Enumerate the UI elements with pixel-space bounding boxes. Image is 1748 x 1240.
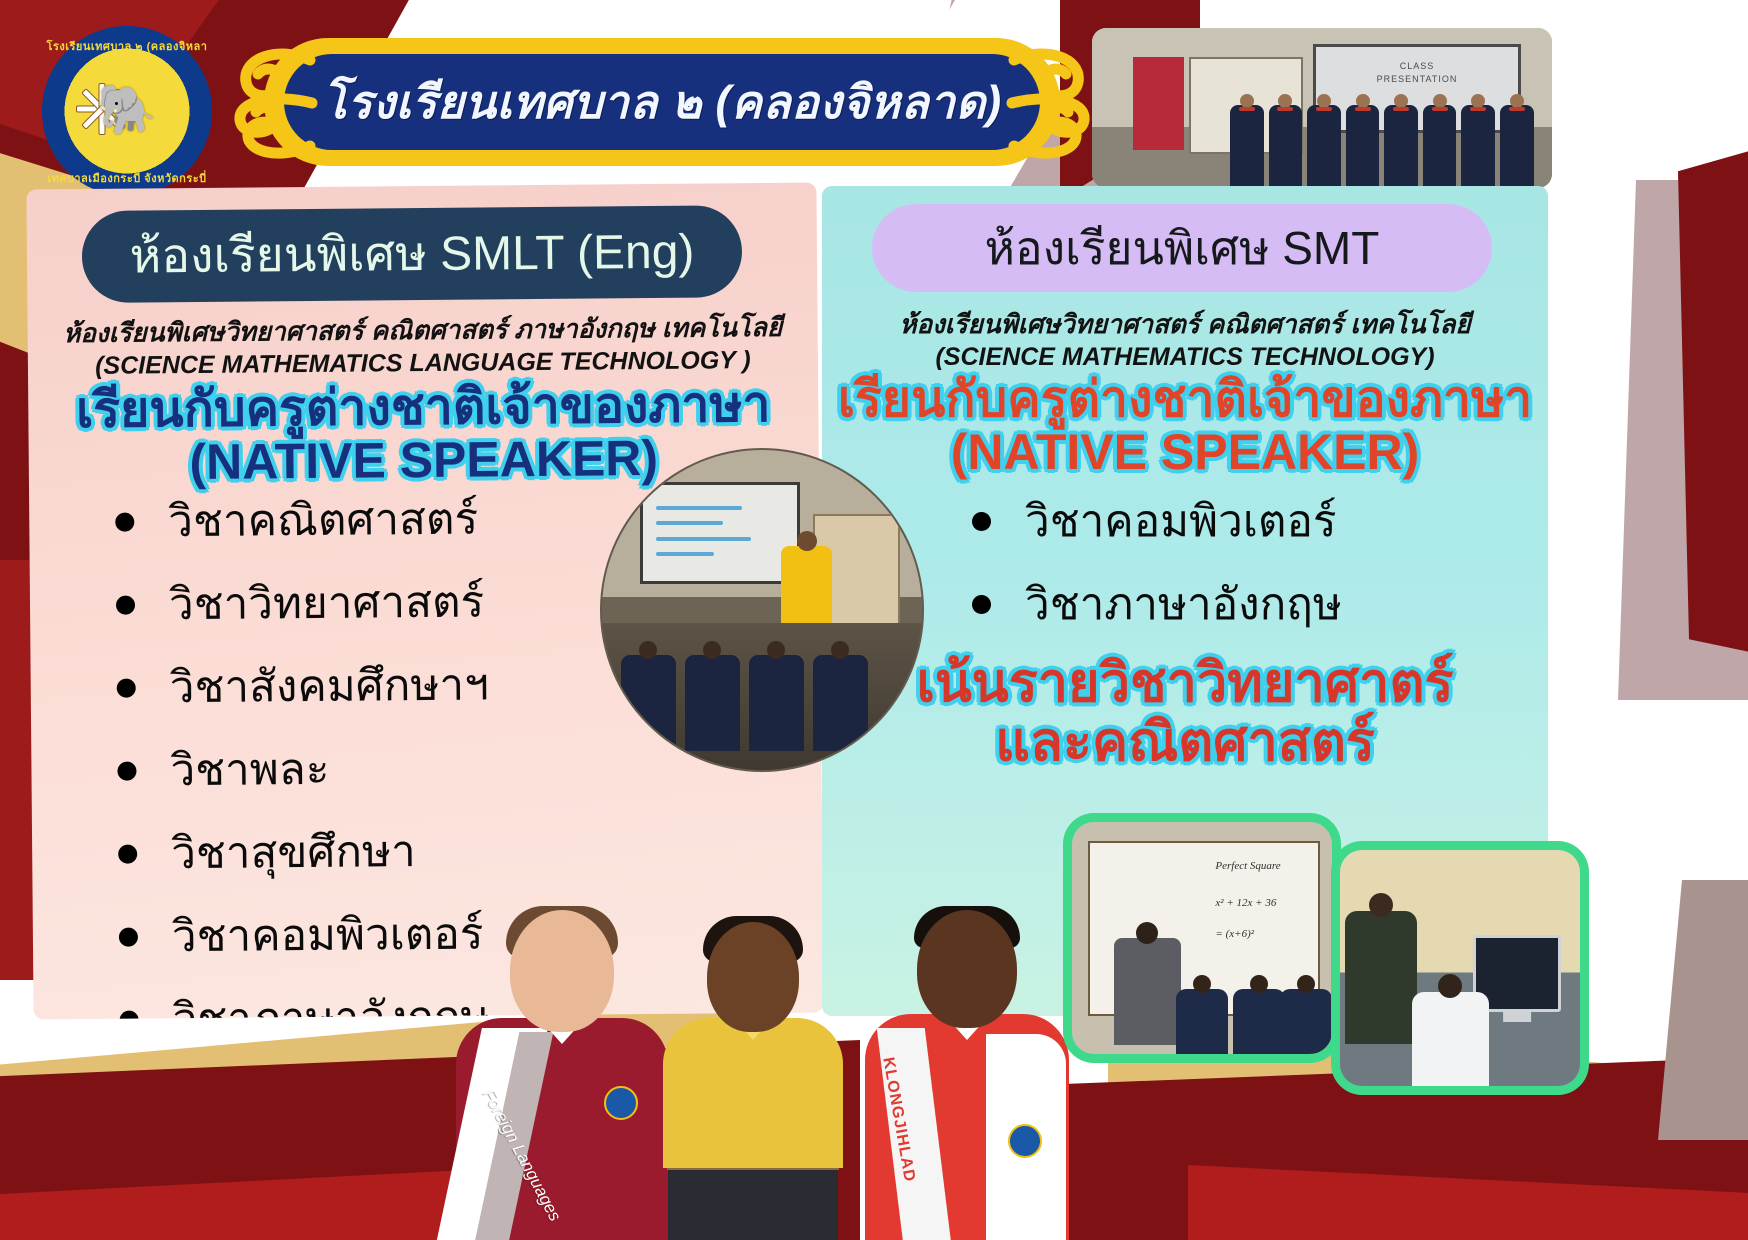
bullet-dot-icon [119,927,138,946]
list-item: วิชาพละ [117,732,490,805]
list-item: วิชาสังคมศึกษาฯ [116,649,489,722]
math-whiteboard-photo: Perfect Square x² + 12x + 36 = (x+6)² [1072,822,1332,1054]
list-item: วิชาภาษาอังกฤษ [119,981,492,1019]
smt-subject-list: วิชาคอมพิวเตอร์ วิชาภาษาอังกฤษ [972,486,1342,652]
teacher2-trousers [668,1158,838,1240]
teacher2-face [707,922,799,1032]
smt-emphasis-line2: และคณิตศาสตร์ [822,715,1548,770]
logo-ring-text: โรงเรียนเทศบาล ๒ (คลองจิหลาด) เทศบาลเมือ… [42,26,212,196]
ornament-flourish-left-icon [226,42,346,164]
list-item: วิชาคณิตศาสตร์ [115,483,488,556]
students-row [1230,105,1534,188]
board-text-1: Perfect Square [1215,860,1280,872]
subject-label: วิชาภาษาอังกฤษ [172,981,490,1019]
subject-label: วิชาคอมพิวเตอร์ [172,899,484,972]
logo-ring-top-text: โรงเรียนเทศบาล ๒ (คลองจิหลาด) [42,37,212,73]
subject-label: วิชาภาษาอังกฤษ [1025,569,1342,639]
list-item: วิชาภาษาอังกฤษ [972,569,1342,639]
bullet-dot-icon [117,761,136,780]
teacher2-shirt [663,1018,843,1168]
smt-subtitle-thai: ห้องเรียนพิเศษวิทยาศาสตร์ คณิตศาสตร์ เทค… [822,308,1548,341]
class-presentation-photo: CLASS PRESENTATION [1092,28,1552,188]
list-item: วิชาสุขศึกษา [118,815,491,888]
foreign-language-teacher-1: Foreign Languages [452,910,672,1240]
smt-subtitle-english: (SCIENCE MATHEMATICS TECHNOLOGY) [822,342,1548,373]
bullet-dot-icon [120,1010,139,1019]
smlt-subject-list: วิชาคณิตศาสตร์ วิชาวิทยาศาสตร์ วิชาสังคม… [115,483,492,1019]
smt-title-pill: ห้องเรียนพิเศษ SMT [872,204,1492,292]
bullet-dot-icon [116,595,135,614]
bullet-dot-icon [972,595,991,614]
ornament-flourish-right-icon [978,42,1098,164]
foreign-language-teacher-2 [656,922,850,1240]
computer-lab-photo [1340,850,1580,1086]
foreign-language-teacher-3: KLONGJIHLAD [862,910,1072,1240]
photo-native-teacher [781,546,832,629]
smlt-title-pill: ห้องเรียนพิเศษ SMLT (Eng) [82,205,743,303]
decor-shard-maroon-right [1678,140,1748,660]
smlt-native-line1: เรียนกับครูต่างชาติเจ้าของภาษา [28,379,818,437]
banner-blue-pill: โรงเรียนเทศบาล ๒ (คลองจิหลาด) [284,54,1040,150]
bullet-dot-icon [972,512,991,531]
smt-title: ห้องเรียนพิเศษ SMT [985,212,1380,285]
math-photo-teacher [1114,938,1182,1045]
smt-native-line1: เรียนกับครูต่างชาติเจ้าของภาษา [822,374,1548,425]
subject-label: วิชาสุขศึกษา [171,816,416,888]
smt-native-speaker-heading: เรียนกับครูต่างชาติเจ้าของภาษา (NATIVE S… [822,374,1548,478]
school-name-banner: โรงเรียนเทศบาล ๒ (คลองจิหลาด) [232,28,1092,178]
school-logo: 🐘 โรงเรียนเทศบาล ๒ (คลองจิหลาด) เทศบาลเม… [42,26,212,196]
computer-lab-student [1412,992,1489,1086]
list-item: วิชาวิทยาศาสตร์ [116,566,489,639]
school-name-text: โรงเรียนเทศบาล ๒ (คลองจิหลาด) [322,66,1001,139]
subject-label: วิชาคอมพิวเตอร์ [1025,486,1337,556]
teacher1-school-badge-icon [604,1086,638,1120]
teacher1-face [510,910,614,1032]
smlt-title: ห้องเรียนพิเศษ SMLT (Eng) [129,214,694,295]
subject-label: วิชาสังคมศึกษาฯ [169,649,489,722]
bullet-dot-icon [115,512,134,531]
subject-label: วิชาวิทยาศาสตร์ [169,566,485,639]
bullet-dot-icon [118,844,137,863]
smt-emphasis-line1: เน้นรายวิชาวิทยาศาตร์ [822,656,1548,711]
computer-lab-teacher [1345,911,1417,1043]
smt-emphasis-heading: เน้นรายวิชาวิทยาศาตร์ และคณิตศาสตร์ [822,656,1548,770]
photo-projector-screen [640,482,800,584]
screen-text-line2: PRESENTATION [1316,73,1518,86]
smlt-subtitle-thai: ห้องเรียนพิเศษวิทยาศาสตร์ คณิตศาสตร์ ภาษ… [28,311,818,350]
teacher3-face [917,910,1017,1028]
board-text-3: = (x+6)² [1215,928,1254,940]
subject-label: วิชาพละ [170,734,329,805]
screen-text-line1: CLASS [1316,60,1518,73]
list-item: วิชาคอมพิวเตอร์ [972,486,1342,556]
native-teacher-classroom-photo [600,448,924,772]
teacher3-school-badge-icon [1008,1124,1042,1158]
smt-native-line2: (NATIVE SPEAKER) [822,427,1548,478]
poster-stage: 🐘 โรงเรียนเทศบาล ๒ (คลองจิหลาด) เทศบาลเม… [0,0,1748,1240]
bullet-dot-icon [117,678,136,697]
list-item: วิชาคอมพิวเตอร์ [119,898,492,971]
classroom-red-board [1133,57,1184,150]
board-text-2: x² + 12x + 36 [1215,897,1276,909]
logo-ring-bottom-text: เทศบาลเมืองกระบี่ จังหวัดกระบี่ [42,169,212,187]
subject-label: วิชาคณิตศาสตร์ [168,484,478,557]
projector-screen-text: CLASS PRESENTATION [1316,60,1518,85]
